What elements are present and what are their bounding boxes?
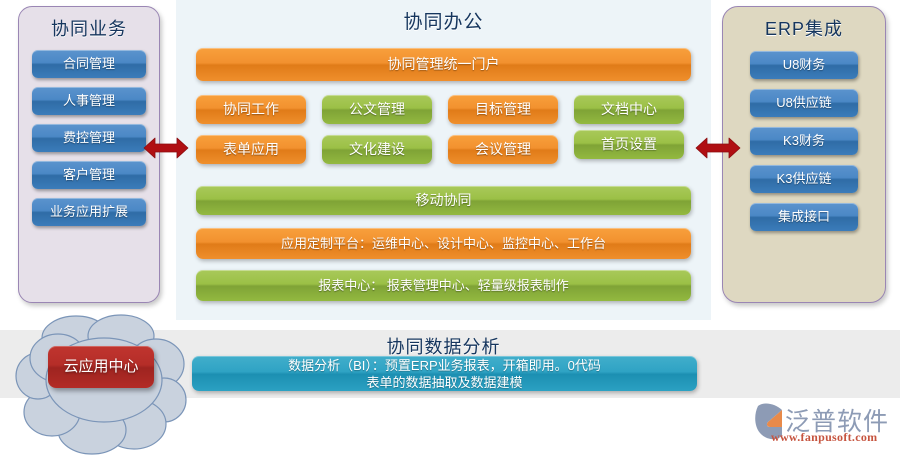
app-customization-platform-bar[interactable]: 应用定制平台：运维中心、设计中心、监控中心、工作台 [196, 228, 691, 259]
unified-portal-bar[interactable]: 协同管理统一门户 [196, 48, 691, 81]
left-panel-title: 协同业务 [19, 15, 159, 41]
logo-url: www.fanpusoft.com [771, 430, 877, 445]
erp-integration-panel: ERP集成 U8财务 U8供应链 K3财务 K3供应链 集成接口 [722, 6, 886, 303]
erp-item-k3-finance[interactable]: K3财务 [750, 127, 858, 155]
bi-analysis-line2: 表单的数据抽取及数据建模 [192, 374, 697, 391]
erp-item-u8-finance[interactable]: U8财务 [750, 51, 858, 79]
center-panel-title: 协同办公 [176, 0, 711, 34]
sidebar-item-contract-management[interactable]: 合同管理 [32, 50, 146, 78]
erp-item-integration-api[interactable]: 集成接口 [750, 203, 858, 231]
report-center-bar[interactable]: 报表中心： 报表管理中心、轻量级报表制作 [196, 270, 691, 301]
mobile-collaboration-bar[interactable]: 移动协同 [196, 186, 691, 215]
tile-meeting-management[interactable]: 会议管理 [448, 135, 558, 164]
sidebar-item-business-app-extension[interactable]: 业务应用扩展 [32, 198, 146, 226]
sidebar-item-hr-management[interactable]: 人事管理 [32, 87, 146, 115]
erp-item-k3-supply-chain[interactable]: K3供应链 [750, 165, 858, 193]
erp-item-u8-supply-chain[interactable]: U8供应链 [750, 89, 858, 117]
sidebar-item-customer-management[interactable]: 客户管理 [32, 161, 146, 189]
cloud-app-center-button[interactable]: 云应用中心 [48, 346, 154, 388]
bi-analysis-bar[interactable]: 数据分析（BI）：预置ERP业务报表，开箱即用。0代码 表单的数据抽取及数据建模 [192, 356, 697, 391]
sidebar-item-expense-control[interactable]: 费控管理 [32, 124, 146, 152]
tile-goal-management[interactable]: 目标管理 [448, 95, 558, 124]
tile-document-admin[interactable]: 公文管理 [322, 95, 432, 124]
right-panel-title: ERP集成 [723, 15, 885, 41]
collaborative-business-panel: 协同业务 合同管理 人事管理 费控管理 客户管理 业务应用扩展 [18, 6, 160, 303]
tile-culture-building[interactable]: 文化建设 [322, 135, 432, 164]
double-arrow-right-icon [695, 135, 741, 161]
collaborative-office-panel: 协同办公 协同管理统一门户 协同工作 公文管理 目标管理 文档中心 表单应用 文… [176, 0, 711, 320]
tile-form-application[interactable]: 表单应用 [196, 135, 306, 164]
tile-homepage-settings[interactable]: 首页设置 [574, 130, 684, 159]
tile-collaborative-work[interactable]: 协同工作 [196, 95, 306, 124]
bi-analysis-line1: 数据分析（BI）：预置ERP业务报表，开箱即用。0代码 [192, 357, 697, 374]
tile-document-center[interactable]: 文档中心 [574, 95, 684, 124]
double-arrow-left-icon [143, 135, 189, 161]
